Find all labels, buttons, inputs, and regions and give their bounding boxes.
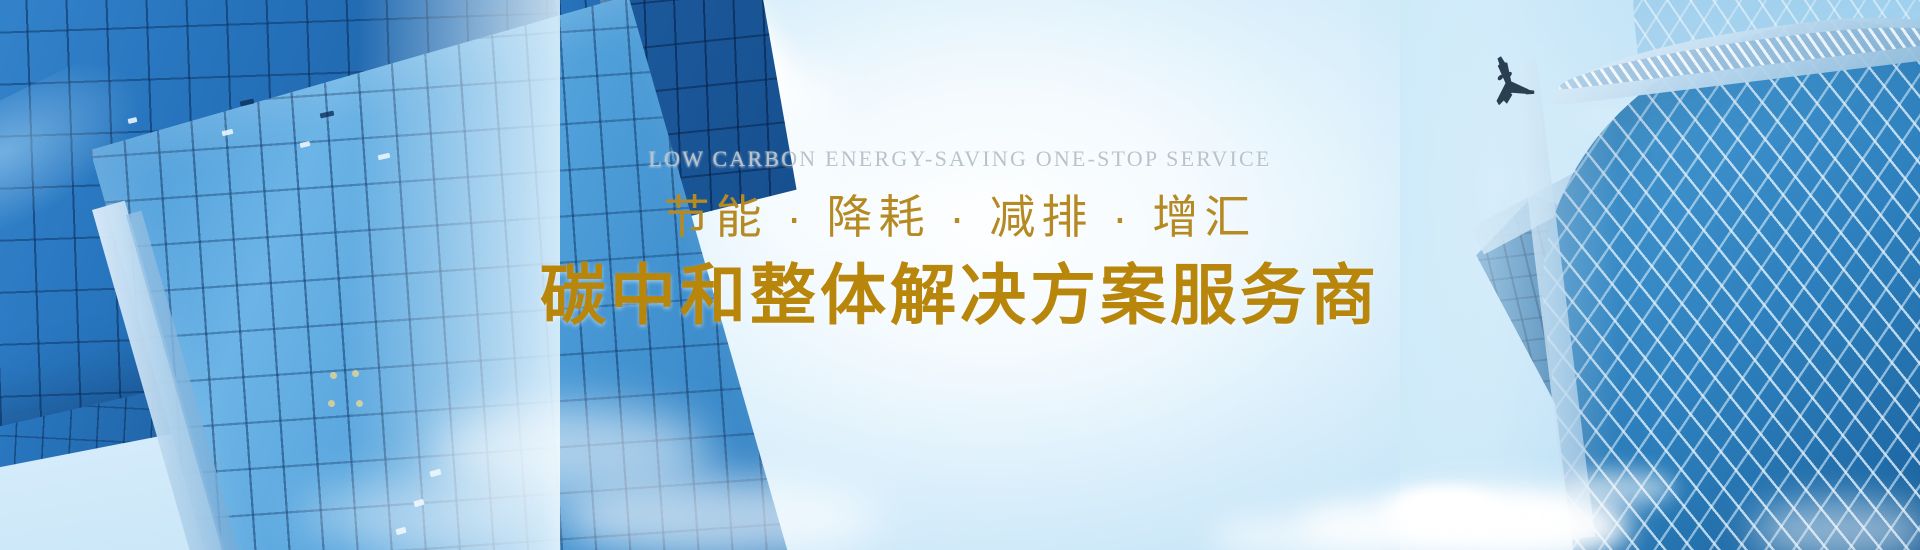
hero-banner: LOW CARBON ENERGY-SAVING ONE-STOP SERVIC… — [0, 0, 1920, 550]
banner-text-block: LOW CARBON ENERGY-SAVING ONE-STOP SERVIC… — [0, 148, 1920, 333]
cloud-shape — [300, 480, 540, 550]
cloud-shape — [1565, 470, 1675, 506]
cloud-shape — [560, 478, 880, 550]
banner-headline: 碳中和整体解决方案服务商 — [0, 259, 1920, 333]
banner-eyebrow-tagline: LOW CARBON ENERGY-SAVING ONE-STOP SERVIC… — [0, 148, 1920, 170]
cloud-shape — [1400, 490, 1490, 520]
banner-subtitle: 节能 · 降耗 · 减排 · 增汇 — [0, 192, 1920, 243]
